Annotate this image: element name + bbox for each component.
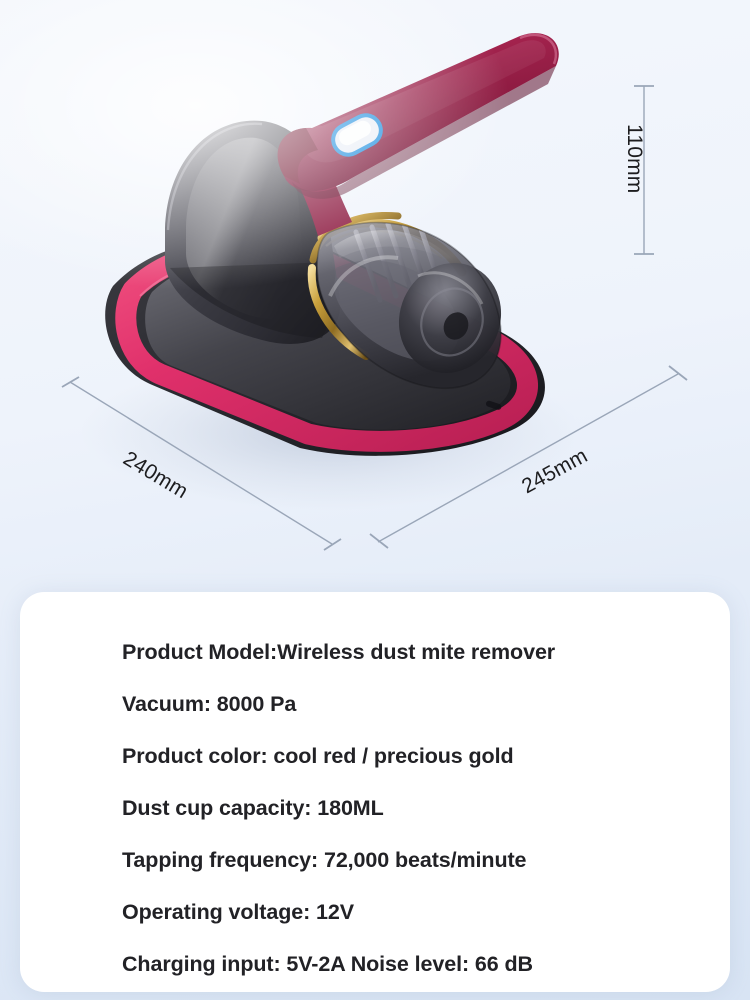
spec-line-dust-cup-capacity: Dust cup capacity: 180ML — [122, 782, 690, 834]
spec-line-charging-input-noise: Charging input: 5V-2A Noise level: 66 dB — [122, 938, 690, 990]
specification-card: Product Model:Wireless dust mite remover… — [20, 592, 730, 992]
spec-line-tapping-frequency: Tapping frequency: 72,000 beats/minute — [122, 834, 690, 886]
dimension-label-height: 110mm — [622, 124, 646, 193]
dimension-line-depth — [366, 356, 696, 556]
dimension-line-width — [58, 368, 358, 564]
spec-line-product-model: Product Model:Wireless dust mite remover — [122, 626, 690, 678]
product-hero: 110mm 240mm 245mm — [0, 0, 750, 585]
spec-line-operating-voltage: Operating voltage: 12V — [122, 886, 690, 938]
handle — [278, 33, 559, 236]
page-stage: 110mm 240mm 245mm Product Model:Wireless… — [0, 0, 750, 1000]
spec-line-product-color: Product color: cool red / precious gold — [122, 730, 690, 782]
spec-line-vacuum: Vacuum: 8000 Pa — [122, 678, 690, 730]
